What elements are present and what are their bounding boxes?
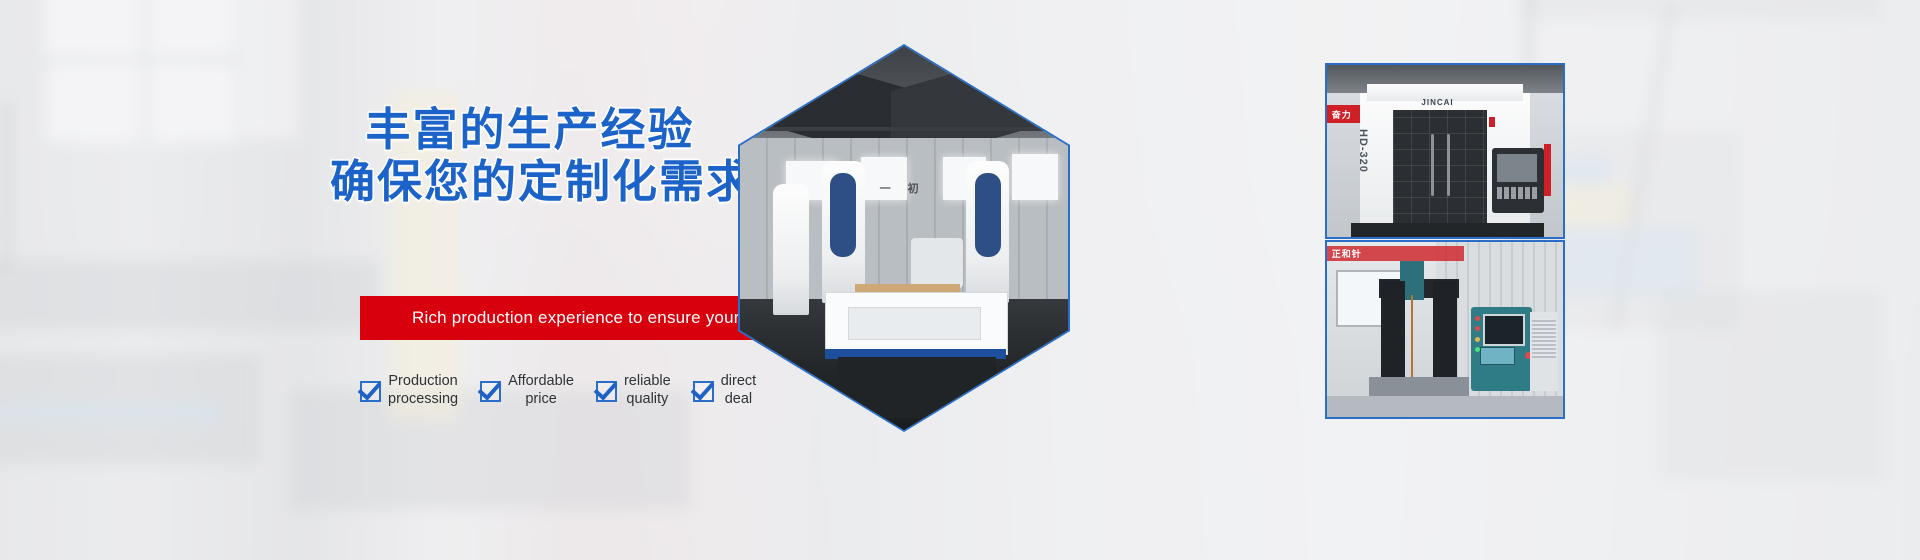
- headline: 丰富的生产经验 确保您的定制化需求: [330, 104, 730, 208]
- thumbnail-edm-machine[interactable]: 正和针: [1325, 240, 1565, 419]
- feature-label-line-1: Production: [388, 372, 458, 390]
- thumb-indicator-light: [1475, 326, 1480, 331]
- thumb-door-handle: [1447, 134, 1450, 196]
- feature-label-line-1: reliable: [624, 372, 671, 390]
- thumb-electrode-wire: [1411, 295, 1413, 383]
- checkbox-checked-icon: [360, 381, 381, 402]
- checkbox-checked-icon: [596, 381, 617, 402]
- thumb-control-screen: [1497, 154, 1537, 182]
- feature-label-line-2: price: [508, 390, 574, 408]
- thumbnail-cnc-machining-center[interactable]: 奋力 JINCAI HD-320: [1325, 63, 1565, 239]
- feature-label-line-2: quality: [624, 390, 671, 408]
- thumb-door-grid: [1393, 110, 1487, 230]
- photo-column-panel: [975, 173, 1001, 257]
- checkbox-checked-icon: [693, 381, 714, 402]
- feature-item-reliable-quality[interactable]: reliable quality: [596, 372, 671, 408]
- thumb-control-screen: [1483, 314, 1525, 346]
- photo-machine-window: [848, 307, 981, 340]
- photo-machine-column: [773, 184, 809, 315]
- thumb-machine-base: [1351, 223, 1545, 237]
- thumb-brand-label: JINCAI: [1421, 98, 1453, 107]
- thumb-indicator-light: [1475, 347, 1480, 352]
- thumb-wall-banner-text: 正和针: [1332, 247, 1362, 260]
- checkbox-checked-icon: [480, 381, 501, 402]
- photo-column-panel: [830, 173, 856, 257]
- thumb-panel-accent: [1544, 144, 1551, 196]
- thumb-wall-banner-text: 奋力: [1332, 108, 1352, 121]
- thumb-warning-sticker: [1489, 117, 1495, 127]
- hexagon-photo-frame[interactable]: 定 一 初: [738, 44, 1070, 432]
- feature-label: reliable quality: [624, 372, 671, 408]
- feature-label-line-2: processing: [388, 390, 458, 408]
- photo-window: [1012, 154, 1058, 200]
- feature-label: Affordable price: [508, 372, 574, 408]
- photo-beam: [740, 127, 1068, 131]
- hexagon-photo-cnc-machine: 定 一 初: [740, 46, 1068, 430]
- hero-banner: 丰富的生产经验 确保您的定制化需求 Rich production experi…: [0, 0, 1920, 560]
- feature-item-affordable-price[interactable]: Affordable price: [480, 372, 574, 408]
- thumb-machine-column-left: [1381, 281, 1405, 383]
- headline-line-2: 确保您的定制化需求: [330, 156, 730, 208]
- thumb-indicator-light: [1475, 316, 1480, 321]
- thumb-door-handle: [1431, 134, 1434, 196]
- thumb-cabinet-vents: [1532, 319, 1556, 358]
- thumb-control-keypad: [1480, 347, 1515, 365]
- feature-item-production-processing[interactable]: Production processing: [360, 372, 458, 408]
- thumb-floor: [1327, 396, 1563, 417]
- photo-wrapped-goods: [911, 238, 963, 288]
- thumb-indicator-light: [1475, 337, 1480, 342]
- thumb-control-keypad: [1497, 187, 1537, 199]
- feature-label: Production processing: [388, 372, 458, 408]
- photo-machine-base: [838, 357, 995, 418]
- thumb-machine-column-right: [1433, 281, 1457, 383]
- thumb-model-label: HD-320: [1357, 129, 1369, 173]
- headline-line-1: 丰富的生产经验: [330, 104, 730, 156]
- feature-label-line-1: Affordable: [508, 372, 574, 390]
